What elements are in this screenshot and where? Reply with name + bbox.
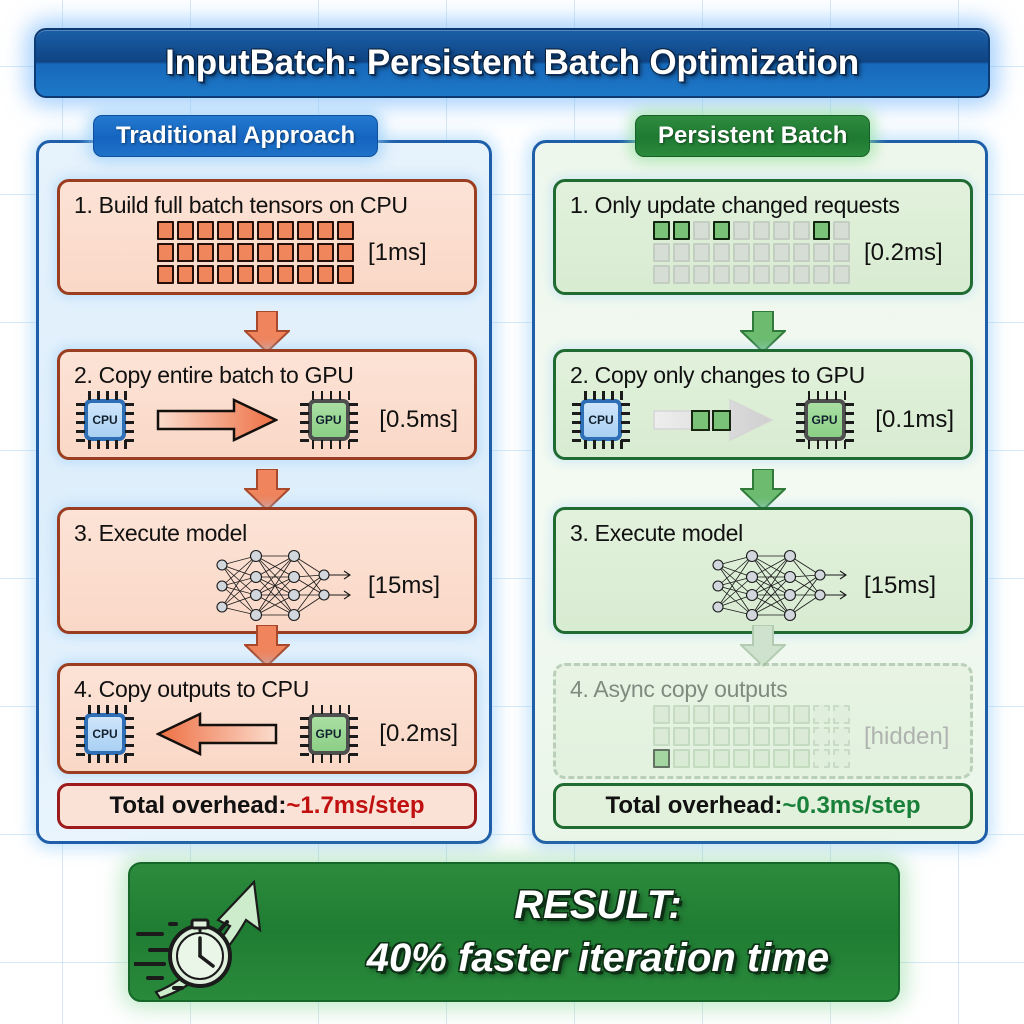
- tensor-cell: [733, 727, 750, 746]
- tensor-grid-full: [157, 221, 354, 284]
- chip-pin: [349, 726, 358, 729]
- step-timing: [0.5ms]: [379, 406, 458, 434]
- chip-pin: [88, 440, 91, 449]
- tensor-grid-ghost: [653, 705, 850, 768]
- step-timing: [0.1ms]: [875, 406, 954, 434]
- chip-pin: [106, 705, 109, 714]
- tensor-cell: [197, 243, 214, 262]
- chip-pin: [330, 440, 333, 449]
- total-label: Total overhead:: [109, 792, 286, 820]
- chip-pin: [796, 412, 805, 415]
- chip-pin: [300, 744, 309, 747]
- tensor-cell: [693, 265, 710, 284]
- tensor-cell: [297, 243, 314, 262]
- chip-pin: [300, 717, 309, 720]
- tensor-cell: [773, 727, 790, 746]
- chip-pin: [572, 403, 581, 406]
- cpu-chip-label: CPU: [580, 399, 622, 441]
- chip-pin: [835, 440, 838, 449]
- flow-arrow-right-3: [740, 625, 786, 667]
- tensor-cell: [337, 243, 354, 262]
- step-box-left-2: 2. Copy entire batch to GPU CPU GPU [0.5…: [57, 349, 477, 460]
- tensor-cell: [773, 749, 790, 768]
- chip-pin: [88, 391, 91, 400]
- tensor-cell: [733, 705, 750, 724]
- tensor-cell: [793, 265, 810, 284]
- tensor-cell: [297, 221, 314, 240]
- chip-pin: [826, 440, 829, 449]
- cpu-chip-label: CPU: [84, 713, 126, 755]
- tensor-cell: [813, 727, 830, 746]
- total-overhead-left: Total overhead: ~1.7ms/step: [57, 783, 477, 829]
- chip-pin: [796, 403, 805, 406]
- chip-pin: [611, 440, 614, 449]
- copy-arrow-cpu-to-gpu: [156, 398, 278, 442]
- tensor-cell: [673, 705, 690, 724]
- flow-arrow-left-2: [244, 469, 290, 511]
- step-box-left-4: 4. Copy outputs to CPU CPU GPU [0.2ms]: [57, 663, 477, 774]
- chip-pin: [845, 421, 854, 424]
- tensor-cell: [733, 749, 750, 768]
- tensor-cell: [257, 221, 274, 240]
- chip-pin: [125, 403, 134, 406]
- tensor-cell: [793, 243, 810, 262]
- chip-pin: [76, 717, 85, 720]
- chip-pin: [796, 421, 805, 424]
- chip-pin: [115, 440, 118, 449]
- tensor-cell: [673, 243, 690, 262]
- tensor-cell: [773, 265, 790, 284]
- chip-pin: [312, 705, 315, 714]
- chip-pin: [300, 421, 309, 424]
- chip-pin: [76, 421, 85, 424]
- chip-pin: [808, 391, 811, 400]
- tensor-cell: [713, 265, 730, 284]
- tensor-cell: [653, 265, 670, 284]
- chip-pin: [817, 440, 820, 449]
- chip-pin: [300, 726, 309, 729]
- step-title: 1. Build full batch tensors on CPU: [74, 192, 460, 219]
- step-title: 3. Execute model: [570, 520, 956, 547]
- chip-pin: [621, 439, 630, 442]
- tensor-cell: [157, 265, 174, 284]
- chip-pin: [844, 391, 847, 400]
- chip-pin: [76, 439, 85, 442]
- chip-pin: [845, 439, 854, 442]
- chip-pin: [845, 403, 854, 406]
- tensor-cell: [673, 221, 690, 240]
- tensor-cell: [317, 243, 334, 262]
- tensor-cell: [693, 705, 710, 724]
- chip-pin: [330, 391, 333, 400]
- chip-pin: [621, 421, 630, 424]
- tensor-cell: [157, 243, 174, 262]
- chip-pin: [76, 753, 85, 756]
- tensor-cell: [833, 265, 850, 284]
- chip-pin: [125, 439, 134, 442]
- chip-pin: [97, 705, 100, 714]
- chip-pin: [97, 440, 100, 449]
- tensor-cell: [833, 243, 850, 262]
- chip-pin: [602, 391, 605, 400]
- tensor-cell: [693, 243, 710, 262]
- chip-pin: [593, 391, 596, 400]
- tensor-cell: [317, 265, 334, 284]
- chip-pin: [620, 391, 623, 400]
- traditional-approach-panel: Traditional Approach 1. Build full batch…: [36, 140, 492, 844]
- copy-arrow-gpu-to-cpu: [156, 712, 278, 756]
- tensor-cell: [177, 243, 194, 262]
- tensor-cell: [277, 221, 294, 240]
- copy-arrow-changes-to-gpu: [652, 398, 774, 442]
- chip-pin: [125, 726, 134, 729]
- tensor-cell: [813, 749, 830, 768]
- title-banner: InputBatch: Persistent Batch Optimizatio…: [34, 28, 990, 98]
- step-box-right-2: 2. Copy only changes to GPU CPU GPU [0.1…: [553, 349, 973, 460]
- tensor-cell: [733, 221, 750, 240]
- chip-pin: [125, 735, 134, 738]
- gpu-chip-icon: GPU: [300, 705, 358, 763]
- tensor-cell: [833, 749, 850, 768]
- step-timing: [hidden]: [864, 723, 956, 751]
- chip-pin: [584, 440, 587, 449]
- chip-pin: [330, 705, 333, 714]
- chip-pin: [339, 754, 342, 763]
- chip-pin: [125, 717, 134, 720]
- chip-pin: [835, 391, 838, 400]
- chip-pin: [796, 430, 805, 433]
- chip-pin: [300, 439, 309, 442]
- tensor-cell: [753, 243, 770, 262]
- chip-pin: [321, 391, 324, 400]
- tensor-cell: [277, 265, 294, 284]
- chip-pin: [312, 754, 315, 763]
- chip-pin: [124, 391, 127, 400]
- tensor-cell: [793, 727, 810, 746]
- flow-arrow-left-3: [244, 625, 290, 667]
- chip-pin: [349, 430, 358, 433]
- chip-pin: [125, 412, 134, 415]
- tensor-cell: [257, 265, 274, 284]
- chip-pin: [611, 391, 614, 400]
- chip-pin: [88, 754, 91, 763]
- chip-pin: [76, 726, 85, 729]
- tensor-cell: [833, 705, 850, 724]
- chip-pin: [593, 440, 596, 449]
- tensor-cell: [833, 727, 850, 746]
- chip-pin: [115, 705, 118, 714]
- chip-pin: [817, 391, 820, 400]
- chip-pin: [845, 430, 854, 433]
- tensor-cell: [753, 705, 770, 724]
- step-timing: [1ms]: [368, 239, 460, 267]
- panel-header-traditional: Traditional Approach: [93, 115, 378, 157]
- chip-pin: [312, 391, 315, 400]
- tensor-cell: [653, 705, 670, 724]
- tensor-cell: [693, 221, 710, 240]
- tensor-cell: [673, 265, 690, 284]
- tensor-cell: [217, 243, 234, 262]
- chip-pin: [339, 391, 342, 400]
- flow-arrow-right-1: [740, 311, 786, 353]
- chip-pin: [349, 439, 358, 442]
- tensor-cell: [713, 221, 730, 240]
- step-title: 4. Async copy outputs: [570, 676, 956, 703]
- panel-header-persistent: Persistent Batch: [635, 115, 870, 157]
- step-title: 2. Copy entire batch to GPU: [74, 362, 460, 389]
- tensor-cell: [237, 265, 254, 284]
- step-box-right-4: 4. Async copy outputs [hidden]: [553, 663, 973, 779]
- chip-pin: [76, 412, 85, 415]
- tensor-cell: [793, 221, 810, 240]
- chip-pin: [76, 744, 85, 747]
- chip-pin: [115, 754, 118, 763]
- result-line-2: 40% faster iteration time: [310, 930, 886, 986]
- chip-pin: [584, 391, 587, 400]
- tensor-cell: [813, 265, 830, 284]
- chip-pin: [125, 744, 134, 747]
- chip-pin: [349, 421, 358, 424]
- step-box-left-3: 3. Execute model: [57, 507, 477, 634]
- stopwatch-growth-icon: [134, 864, 324, 1002]
- tensor-grid-sparse: [653, 221, 850, 284]
- tensor-cell: [753, 727, 770, 746]
- chip-pin: [300, 735, 309, 738]
- result-line-1: RESULT:: [310, 880, 886, 930]
- tensor-cell: [337, 265, 354, 284]
- step-title: 1. Only update changed requests: [570, 192, 956, 219]
- chip-pin: [97, 754, 100, 763]
- tensor-cell: [653, 749, 670, 768]
- chip-pin: [339, 705, 342, 714]
- tensor-cell: [197, 265, 214, 284]
- chip-pin: [621, 412, 630, 415]
- chip-pin: [106, 754, 109, 763]
- step-box-right-1: 1. Only update changed requests [0.2ms]: [553, 179, 973, 295]
- step-title: 3. Execute model: [74, 520, 460, 547]
- chip-pin: [97, 391, 100, 400]
- tensor-cell: [277, 243, 294, 262]
- tensor-cell: [753, 265, 770, 284]
- chip-pin: [330, 754, 333, 763]
- cpu-chip-icon: CPU: [76, 391, 134, 449]
- tensor-cell: [773, 705, 790, 724]
- tensor-cell: [813, 243, 830, 262]
- step-timing: [15ms]: [368, 572, 460, 600]
- gpu-chip-label: GPU: [804, 399, 846, 441]
- chip-pin: [76, 735, 85, 738]
- tensor-cell: [813, 221, 830, 240]
- tensor-cell: [713, 243, 730, 262]
- tensor-cell: [317, 221, 334, 240]
- chip-pin: [349, 735, 358, 738]
- cpu-chip-icon: CPU: [572, 391, 630, 449]
- chip-pin: [572, 421, 581, 424]
- gpu-chip-label: GPU: [308, 399, 350, 441]
- chip-pin: [125, 421, 134, 424]
- chip-pin: [348, 705, 351, 714]
- step-box-right-3: 3. Execute model: [553, 507, 973, 634]
- tensor-cell: [773, 243, 790, 262]
- tensor-cell: [237, 243, 254, 262]
- chip-pin: [106, 391, 109, 400]
- tensor-cell: [177, 265, 194, 284]
- tensor-cell: [673, 727, 690, 746]
- chip-pin: [300, 753, 309, 756]
- tensor-cell: [713, 749, 730, 768]
- chip-pin: [826, 391, 829, 400]
- total-overhead-right: Total overhead: ~0.3ms/step: [553, 783, 973, 829]
- persistent-batch-panel: Persistent Batch 1. Only update changed …: [532, 140, 988, 844]
- chip-pin: [796, 439, 805, 442]
- flow-arrow-right-2: [740, 469, 786, 511]
- tensor-cell: [773, 221, 790, 240]
- tensor-cell: [753, 221, 770, 240]
- chip-pin: [321, 754, 324, 763]
- neural-network-icon: [204, 549, 354, 623]
- chip-pin: [349, 753, 358, 756]
- chip-pin: [808, 440, 811, 449]
- chip-pin: [602, 440, 605, 449]
- total-value: ~0.3ms/step: [782, 792, 920, 820]
- chip-pin: [124, 705, 127, 714]
- flow-arrow-left-1: [244, 311, 290, 353]
- tensor-cell: [177, 221, 194, 240]
- chip-pin: [88, 705, 91, 714]
- step-timing: [0.2ms]: [864, 239, 956, 267]
- tensor-cell: [257, 243, 274, 262]
- step-title: 2. Copy only changes to GPU: [570, 362, 956, 389]
- tensor-cell: [157, 221, 174, 240]
- chip-pin: [339, 440, 342, 449]
- tensor-cell: [673, 749, 690, 768]
- page-title: InputBatch: Persistent Batch Optimizatio…: [165, 43, 859, 83]
- cpu-chip-icon: CPU: [76, 705, 134, 763]
- chip-pin: [349, 717, 358, 720]
- tensor-cell: [297, 265, 314, 284]
- chip-pin: [312, 440, 315, 449]
- total-value: ~1.7ms/step: [286, 792, 424, 820]
- step-timing: [0.2ms]: [379, 720, 458, 748]
- step-timing: [15ms]: [864, 572, 956, 600]
- chip-pin: [349, 412, 358, 415]
- chip-pin: [106, 440, 109, 449]
- chip-pin: [572, 412, 581, 415]
- gpu-chip-label: GPU: [308, 713, 350, 755]
- tensor-cell: [793, 705, 810, 724]
- tensor-cell: [337, 221, 354, 240]
- chip-pin: [572, 430, 581, 433]
- step-box-left-1: 1. Build full batch tensors on CPU [1ms]: [57, 179, 477, 295]
- tensor-cell: [653, 221, 670, 240]
- gpu-chip-icon: GPU: [796, 391, 854, 449]
- tensor-cell: [653, 727, 670, 746]
- chip-pin: [349, 744, 358, 747]
- neural-network-icon: [700, 549, 850, 623]
- chip-pin: [76, 430, 85, 433]
- chip-pin: [845, 412, 854, 415]
- chip-pin: [321, 705, 324, 714]
- chip-pin: [125, 430, 134, 433]
- chip-pin: [321, 440, 324, 449]
- tensor-cell: [217, 221, 234, 240]
- tensor-cell: [653, 243, 670, 262]
- tensor-cell: [713, 727, 730, 746]
- tensor-cell: [793, 749, 810, 768]
- gpu-chip-icon: GPU: [300, 391, 358, 449]
- tensor-cell: [693, 727, 710, 746]
- total-label: Total overhead:: [605, 792, 782, 820]
- chip-pin: [349, 403, 358, 406]
- tensor-cell: [813, 705, 830, 724]
- chip-pin: [572, 439, 581, 442]
- tensor-cell: [833, 221, 850, 240]
- chip-pin: [348, 391, 351, 400]
- tensor-cell: [693, 749, 710, 768]
- tensor-cell: [217, 265, 234, 284]
- chip-pin: [300, 430, 309, 433]
- tensor-cell: [733, 243, 750, 262]
- tensor-cell: [753, 749, 770, 768]
- chip-pin: [125, 753, 134, 756]
- step-title: 4. Copy outputs to CPU: [74, 676, 460, 703]
- chip-pin: [621, 403, 630, 406]
- tensor-cell: [713, 705, 730, 724]
- tensor-cell: [237, 221, 254, 240]
- result-banner: RESULT: 40% faster iteration time: [128, 862, 900, 1002]
- chip-pin: [300, 403, 309, 406]
- chip-pin: [621, 430, 630, 433]
- chip-pin: [300, 412, 309, 415]
- chip-pin: [76, 403, 85, 406]
- tensor-cell: [733, 265, 750, 284]
- cpu-chip-label: CPU: [84, 399, 126, 441]
- chip-pin: [115, 391, 118, 400]
- tensor-cell: [197, 221, 214, 240]
